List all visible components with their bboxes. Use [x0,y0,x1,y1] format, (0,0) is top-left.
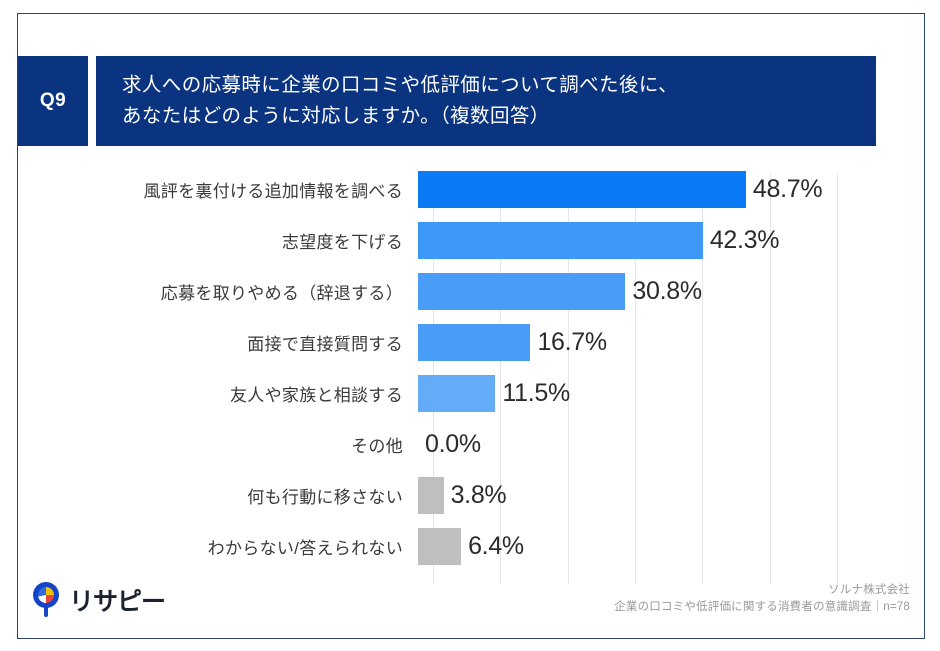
bar-track: 3.8% [418,477,926,514]
bar-value-label: 30.8% [632,277,701,306]
bar-category-label: 志望度を下げる [18,228,418,253]
bar-value-label: 42.3% [710,226,779,255]
footer-credits: ソルナ株式会社 企業の口コミや低評価に関する消費者の意識調査｜n=78 [614,582,910,616]
slide-card: Q9 求人への応募時に企業の口コミや低評価について調べた後に、 あなたはどのよう… [17,13,925,639]
bar-row: 風評を裏付ける追加情報を調べる48.7% [18,164,926,215]
question-title-block: 求人への応募時に企業の口コミや低評価について調べた後に、 あなたはどのように対応… [96,56,876,146]
bar-category-label: 応募を取りやめる（辞退する） [18,279,418,304]
question-text-line-2: あなたはどのように対応しますか。（複数回答） [122,101,876,132]
bar-track: 30.8% [418,273,926,310]
bar-fill [418,324,530,361]
bar-category-label: その他 [18,432,418,457]
magnifier-pie-chart-icon [32,582,62,618]
question-header: Q9 求人への応募時に企業の口コミや低評価について調べた後に、 あなたはどのよう… [18,56,876,146]
bar-track: 0.0% [418,426,926,463]
question-number-badge: Q9 [18,56,88,146]
slide-footer: リサピー ソルナ株式会社 企業の口コミや低評価に関する消費者の意識調査｜n=78 [18,566,926,624]
bar-value-label: 0.0% [425,430,481,459]
pie-chart-icon [38,587,54,603]
bar-category-label: 風評を裏付ける追加情報を調べる [18,177,418,202]
bar-rows: 風評を裏付ける追加情報を調べる48.7%志望度を下げる42.3%応募を取りやめる… [18,164,926,572]
bar-row: 何も行動に移さない3.8% [18,470,926,521]
bar-row: 志望度を下げる42.3% [18,215,926,266]
bar-value-label: 6.4% [468,532,524,561]
bar-category-label: 友人や家族と相談する [18,381,418,406]
bar-category-label: 何も行動に移さない [18,483,418,508]
brand-name: リサピー [69,582,165,618]
bar-value-label: 48.7% [753,175,822,204]
bar-chart: 風評を裏付ける追加情報を調べる48.7%志望度を下げる42.3%応募を取りやめる… [18,164,926,584]
bar-category-label: 面接で直接質問する [18,330,418,355]
bar-track: 11.5% [418,375,926,412]
bar-fill [418,171,746,208]
bar-category-label: わからない/答えられない [18,534,418,559]
magnifier-handle-icon [44,604,48,617]
bar-track: 42.3% [418,222,926,259]
bar-row: 面接で直接質問する16.7% [18,317,926,368]
bar-fill [418,375,495,412]
bar-fill [418,477,444,514]
bar-value-label: 16.7% [537,328,606,357]
bar-fill [418,273,625,310]
bar-fill [418,528,461,565]
bar-fill [418,222,703,259]
bar-value-label: 11.5% [502,379,570,408]
bar-track: 16.7% [418,324,926,361]
bar-value-label: 3.8% [451,481,507,510]
footer-company: ソルナ株式会社 [614,582,910,599]
bar-row: 友人や家族と相談する11.5% [18,368,926,419]
bar-track: 48.7% [418,171,926,208]
bar-track: 6.4% [418,528,926,565]
bar-row: 応募を取りやめる（辞退する）30.8% [18,266,926,317]
brand-logo: リサピー [32,582,165,618]
question-text-line-1: 求人への応募時に企業の口コミや低評価について調べた後に、 [122,70,876,101]
footer-survey: 企業の口コミや低評価に関する消費者の意識調査｜n=78 [614,599,910,616]
bar-row: その他0.0% [18,419,926,470]
bar-row: わからない/答えられない6.4% [18,521,926,572]
